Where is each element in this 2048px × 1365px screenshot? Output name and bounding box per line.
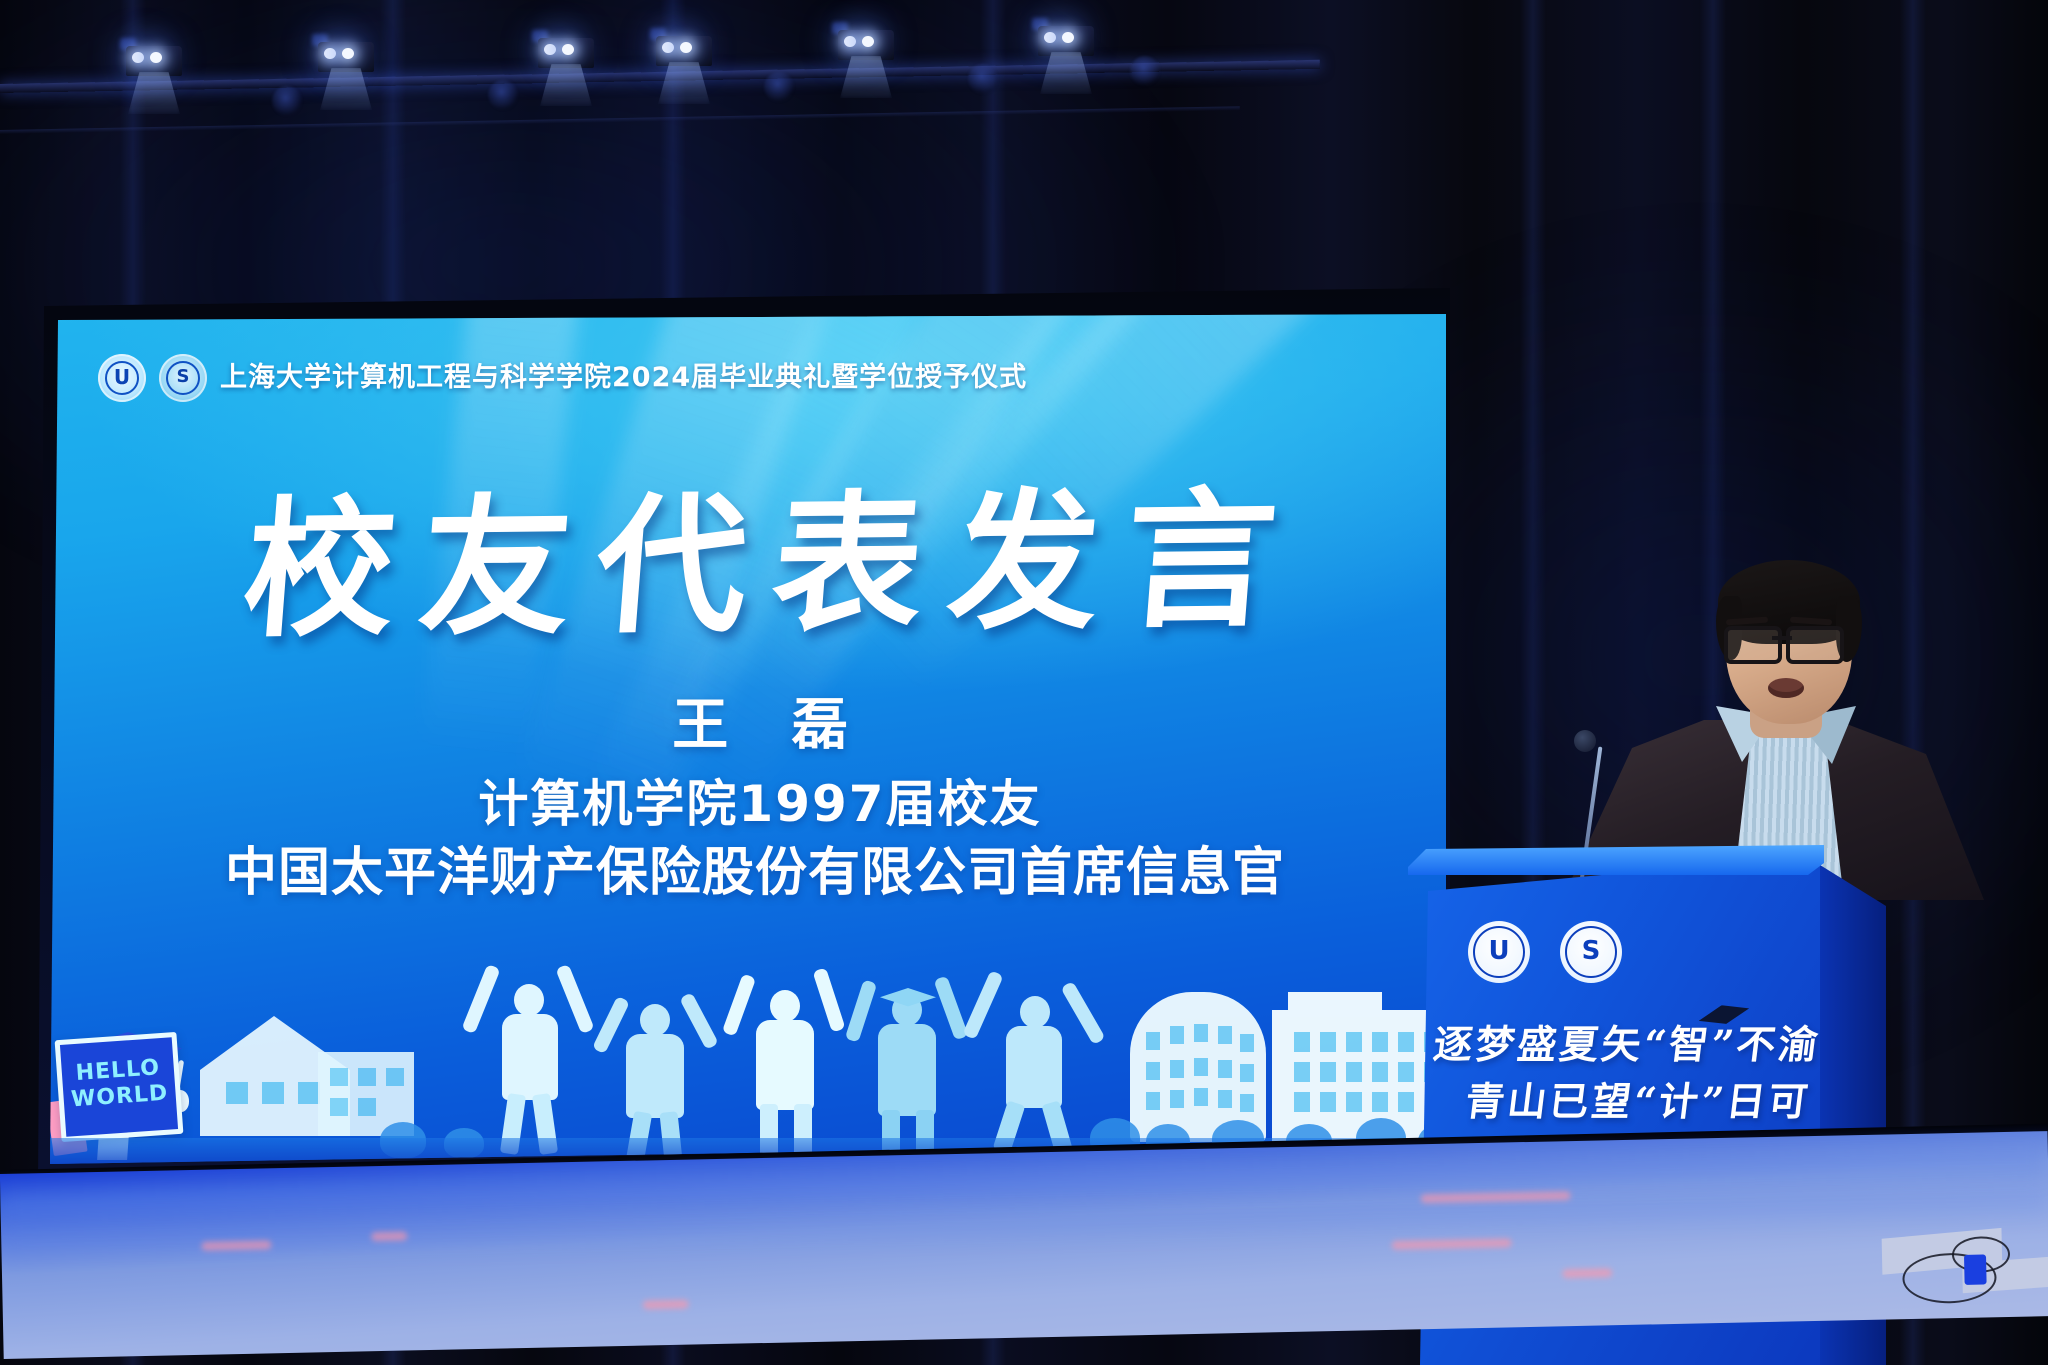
stage-light-fixture (830, 30, 904, 92)
screen-speaker-name: 王 磊 (200, 694, 1320, 758)
podium-top-edge (1408, 845, 1824, 875)
logo-mark: U (98, 365, 146, 389)
logo-mark: U (1468, 937, 1530, 965)
screen-surface: U S 上海大学计算机工程与科学学院2024届毕业典礼暨学位授予仪式 校友代表发… (50, 314, 1446, 1164)
podium-logos: U S (1468, 921, 1622, 983)
floor-light-fleck (1392, 1238, 1512, 1250)
floor-light-fleck (643, 1300, 689, 1310)
graduate-silhouette (726, 960, 846, 1154)
stage-light-fixture (1030, 26, 1104, 88)
graduate-silhouette (850, 966, 964, 1156)
screen-speaker-position: 中国太平洋财产保险股份有限公司首席信息官 (90, 844, 1420, 904)
floor-light-fleck (201, 1240, 271, 1250)
campus-dome-building (1130, 992, 1266, 1142)
screen-header: U S 上海大学计算机工程与科学学院2024届毕业典礼暨学位授予仪式 (98, 354, 1027, 402)
eyeglasses-right-lens (1786, 626, 1844, 664)
speaker-person (1600, 560, 1930, 880)
floor-light-fleck (1562, 1268, 1612, 1278)
graduate-silhouette (470, 958, 590, 1154)
pendant-light (488, 80, 518, 110)
eyeglasses-left-lens (1724, 626, 1782, 664)
pendant-light (272, 86, 302, 116)
shanghai-university-logo: U (98, 354, 146, 402)
screen-main-title: 校友代表发言 (194, 484, 1327, 646)
eyeglasses-bridge (1772, 636, 1792, 640)
graduate-silhouette (598, 970, 714, 1156)
floor-light-fleck (371, 1231, 407, 1241)
computer-science-college-logo: S (1560, 921, 1622, 983)
computer-science-college-logo: S (159, 354, 207, 402)
hello-world-card: HELLO WORLD (55, 1032, 184, 1142)
podium-slogan-line1: 逐梦盛夏矢“智”不渝 (1423, 1017, 1830, 1074)
screen-header-title: 上海大学计算机工程与科学学院2024届毕业典礼暨学位授予仪式 (220, 362, 1027, 394)
screen-speaker-affiliation: 计算机学院1997届校友 (200, 776, 1320, 834)
stage-light-fixture (648, 36, 722, 98)
mouth (1768, 678, 1804, 698)
shanghai-university-logo: U (1468, 921, 1530, 983)
stage-light-fixture (118, 46, 192, 108)
led-screen: U S 上海大学计算机工程与科学学院2024届毕业典礼暨学位授予仪式 校友代表发… (20, 288, 1450, 1188)
campus-main-building (1272, 966, 1446, 1142)
pendant-light (1130, 56, 1160, 86)
stage-photo-scene: U S 上海大学计算机工程与科学学院2024届毕业典礼暨学位授予仪式 校友代表发… (0, 0, 2048, 1365)
pendant-light (968, 64, 998, 94)
microphone-head (1574, 730, 1596, 752)
stage-light-fixture (310, 42, 384, 104)
screen-illustration-band: HELLO WORLD (50, 914, 1446, 1164)
graduate-silhouette (972, 964, 1098, 1152)
hello-world-line2: WORLD (63, 1081, 176, 1113)
pendant-light (764, 72, 794, 102)
stage-light-fixture (530, 38, 604, 100)
logo-mark: S (159, 365, 207, 389)
cable-connector (1964, 1254, 1987, 1284)
logo-mark: S (1560, 937, 1622, 965)
